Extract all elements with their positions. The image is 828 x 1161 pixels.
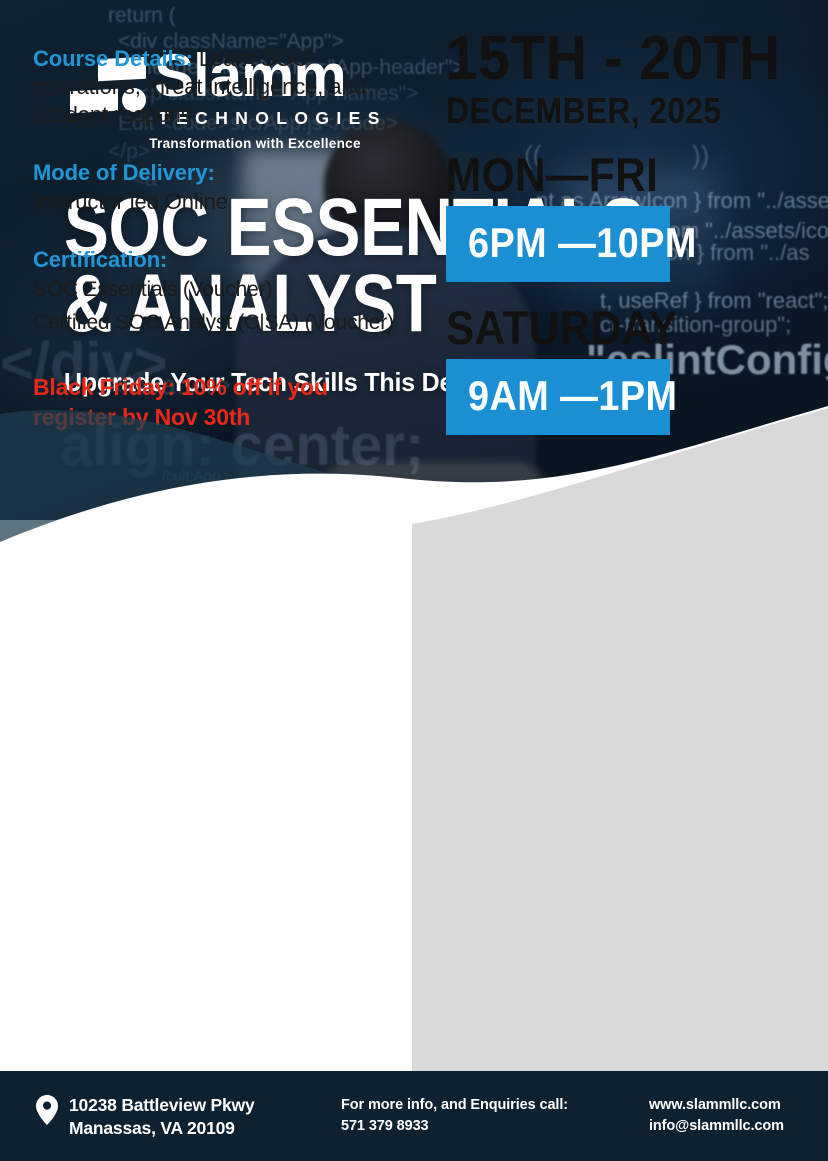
footer-bar: 10238 Battleview Pkwy Manassas, VA 20109… (0, 1071, 828, 1161)
weekday-time-chip: 6PM —10PM (446, 206, 670, 282)
schedule-column: 15TH - 20TH DECEMBER, 2025 MON—FRI 6PM —… (446, 30, 816, 435)
certification-item: Certified SOC Analyst (C|SA) (Voucher) (33, 307, 413, 340)
footer-web: www.slammllc.com info@slammllc.com (649, 1095, 784, 1137)
schedule-panel-background (412, 520, 828, 1071)
course-details-block: Course Details: Learn SOC operations, th… (33, 45, 413, 129)
certification-label: Certification: (33, 246, 413, 274)
delivery-text: Instructor led Online (33, 188, 413, 217)
delivery-block: Mode of Delivery: Instructor led Online (33, 159, 413, 216)
footer-address: 10238 Battleview Pkwy Manassas, VA 20109 (36, 1094, 255, 1140)
footer-address-text: 10238 Battleview Pkwy Manassas, VA 20109 (69, 1094, 255, 1140)
delivery-label: Mode of Delivery: (33, 159, 413, 187)
saturday-label: SATURDAY (446, 304, 779, 351)
weekday-label: MON—FRI (446, 151, 779, 198)
address-line-1: 10238 Battleview Pkwy (69, 1095, 255, 1115)
saturday-time: 9AM —1PM (468, 375, 677, 417)
contact-label: For more info, and Enquiries call: (341, 1097, 568, 1113)
contact-phone[interactable]: 571 379 8933 (341, 1118, 429, 1134)
saturday-time-chip: 9AM —1PM (446, 359, 670, 435)
weekday-time: 6PM —10PM (468, 222, 697, 264)
website-link[interactable]: www.slammllc.com (649, 1097, 781, 1113)
date-range: 15TH - 20TH (446, 30, 786, 89)
month-year: DECEMBER, 2025 (446, 93, 772, 129)
certification-item: SOC Essentials (Voucher) (33, 274, 413, 307)
location-pin-icon (36, 1095, 58, 1130)
flyer-poster: return ( <div className="App"> <header c… (0, 0, 828, 1161)
certification-block: Certification: SOC Essentials (Voucher) … (33, 246, 413, 339)
body-section (0, 520, 828, 1071)
promo-banner-text: Black Friday: 10% off if you register by… (33, 373, 393, 432)
address-line-2: Manassas, VA 20109 (69, 1118, 235, 1138)
course-details-heading: Course Details: Learn SOC operations, th… (33, 45, 413, 129)
course-details-label: Course Details: (33, 46, 193, 71)
footer-contact: For more info, and Enquiries call: 571 3… (341, 1095, 568, 1137)
email-link[interactable]: info@slammllc.com (649, 1118, 784, 1134)
course-info-column: Course Details: Learn SOC operations, th… (33, 45, 413, 432)
